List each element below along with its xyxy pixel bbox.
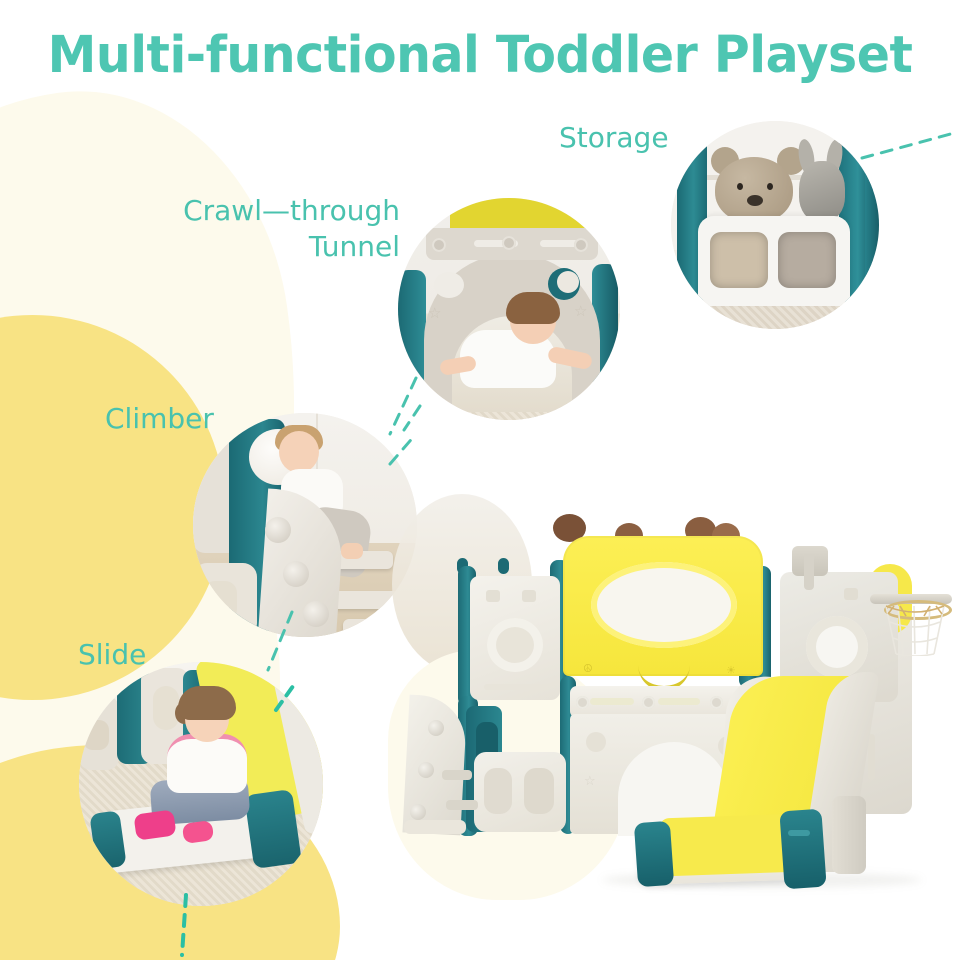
crawl-through-tunnel-photo: ☆ ☆ (398, 198, 620, 420)
playset-left-panel-slot-2 (522, 590, 536, 602)
playset-slide-lip-left (634, 821, 674, 887)
infographic-canvas: Multi-functional Toddler Playset (0, 0, 960, 960)
connector-climber-up (386, 430, 426, 470)
playset-screw-1 (576, 696, 589, 709)
playset-slide-lip-right (779, 809, 826, 890)
playset-right-porthole (806, 616, 868, 678)
climbing-toddler-head (279, 431, 319, 473)
climber-lower-cutout (203, 581, 237, 621)
teddy-bear-eye-right (767, 183, 773, 190)
storage-compartment-front (698, 216, 850, 306)
connector-climber-to-slide (262, 612, 302, 674)
storage-window-left (710, 232, 768, 288)
playset-mid-slot-left (590, 698, 634, 705)
playset-left-panel-groove (484, 684, 546, 690)
callout-label-tunnel: Crawl—through Tunnel (170, 193, 400, 265)
callout-label-tunnel-line2: Tunnel (170, 229, 400, 265)
playset-tower-groove (868, 734, 875, 780)
toddler-playset-product-image: ☮ ☀ ☆ (392, 500, 960, 920)
callout-label-storage: Storage (559, 120, 669, 156)
connector-slide-to-climber (272, 680, 302, 714)
playset-deco-right-icon: ☀ (726, 664, 736, 677)
page-title: Multi-functional Toddler Playset (19, 26, 941, 85)
callout-label-climber: Climber (105, 401, 214, 437)
climber-knob-middle (283, 561, 309, 587)
playset-right-panel-slot (844, 588, 858, 600)
playset-ladder-knob-1 (428, 720, 444, 736)
climber-knob-top (265, 517, 291, 543)
teddy-bear-eye-left (737, 183, 743, 190)
callout-label-tunnel-line1: Crawl—through (170, 193, 400, 229)
climbing-toddler-foot (341, 543, 363, 559)
playset-arch-porthole-left (586, 732, 606, 752)
playset-deco-left-icon: ☮ (583, 662, 593, 675)
slide-far-cutout (83, 720, 109, 750)
playset-teal-nub-right (498, 558, 509, 574)
playset-slide-lip-detail (788, 830, 810, 836)
playset-lower-cutout-left (484, 768, 512, 814)
storage-photo (671, 121, 879, 329)
playset-face-mirror (591, 562, 737, 648)
playset-screw-3 (710, 696, 723, 709)
storage-window-right (778, 232, 836, 288)
tunnel-porthole-right (548, 268, 580, 300)
playset-ladder-step-2 (446, 800, 478, 810)
tunnel-screw-center (502, 236, 516, 250)
playset-slide-support-leg (832, 796, 866, 874)
playset-left-porthole (487, 618, 543, 672)
playset-yellow-face-panel: ☮ ☀ (563, 536, 763, 676)
tunnel-porthole-left (434, 272, 464, 298)
playset-ladder-knob-2 (418, 762, 434, 778)
crawling-baby-hair (506, 292, 560, 324)
teddy-bear-head (715, 157, 793, 223)
connector-slide-down (176, 895, 200, 959)
playset-ladder-knob-3 (410, 804, 426, 820)
playset-arch-star-icon: ☆ (584, 774, 596, 789)
connector-storage-to-right (862, 128, 960, 168)
sliding-toddler-hair (178, 686, 236, 720)
slide-teal-lip-right (244, 789, 302, 869)
tunnel-star-right: ☆ (574, 302, 587, 320)
playset-lower-cutout-right (524, 768, 554, 814)
playset-ladder-step-1 (442, 770, 472, 780)
tunnel-star-left: ☆ (428, 304, 441, 322)
tunnel-teal-panel-left (398, 270, 426, 386)
climber-photo (193, 413, 417, 637)
teddy-bear-nose (747, 195, 763, 206)
playset-climber-ladder (400, 696, 474, 834)
bunny-plush-head (799, 161, 845, 221)
playset-left-panel (470, 576, 560, 700)
basketball-hoop-net (884, 604, 946, 656)
playset-mid-slot-right (658, 698, 700, 705)
sliding-toddler-shirt (167, 734, 247, 793)
playset-left-panel-slot-1 (486, 590, 500, 602)
playset-screw-2 (642, 696, 655, 709)
playset-ladder-foot (404, 820, 466, 834)
tunnel-screw-right (574, 238, 588, 252)
playset-lower-left-panel (474, 752, 566, 832)
playset-hoop-post (804, 554, 814, 590)
callout-label-slide: Slide (78, 637, 146, 673)
tunnel-screw-left (432, 238, 446, 252)
climber-knob-bottom (303, 601, 329, 627)
